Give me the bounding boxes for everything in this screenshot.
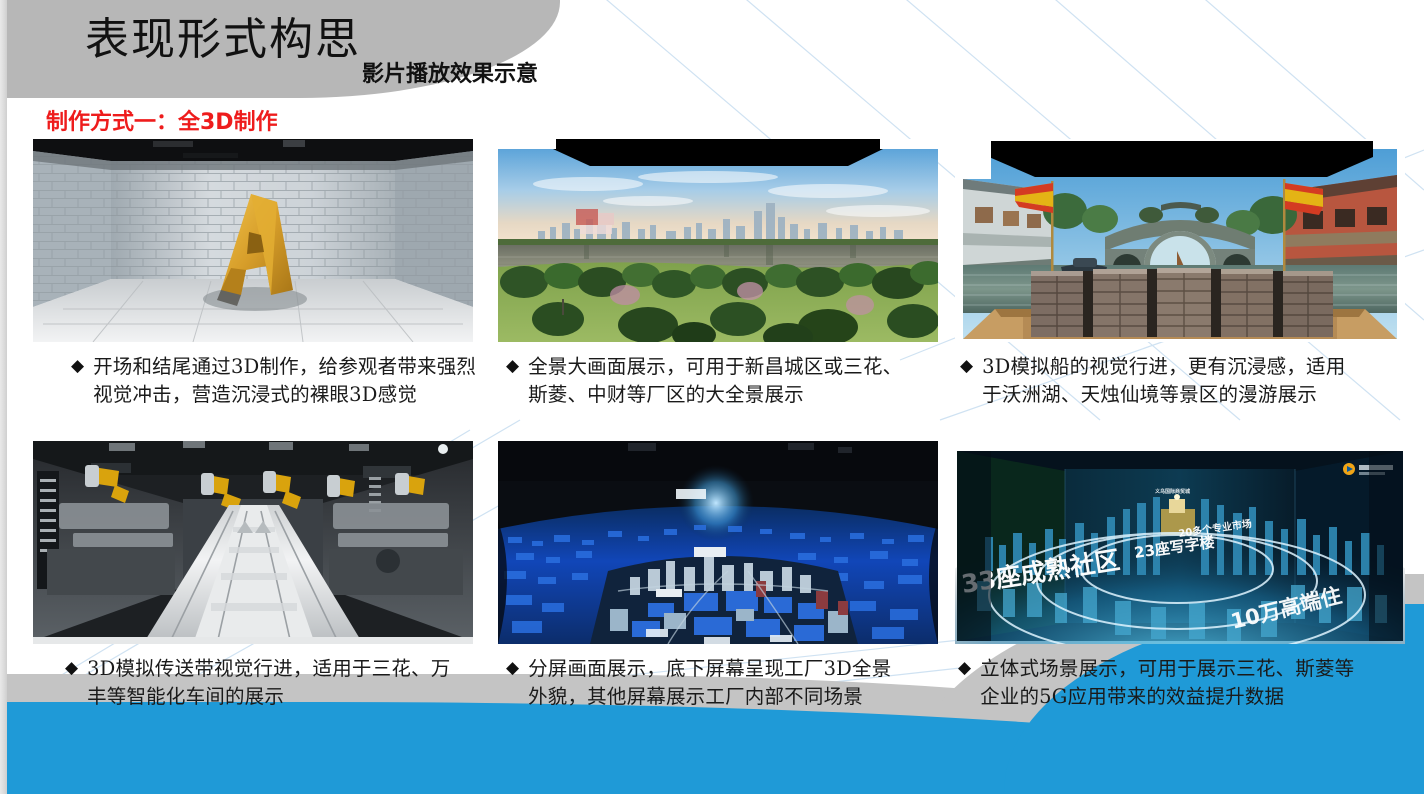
caption-boat-bridge: ◆ 3D模拟船的视觉行进，更有沉浸感，适用 于沃洲湖、天烛仙境等景区的漫游展示 [960,353,1415,408]
svg-text:义乌国际商贸城: 义乌国际商贸城 [1154,488,1190,495]
bullet-diamond-icon: ◆ [71,354,84,379]
bullet-diamond-icon: ◆ [958,656,971,681]
thumbnail-split-screen[interactable] [498,441,938,644]
caption-text: 3D模拟船的视觉行进，更有沉浸感，适用 于沃洲湖、天烛仙境等景区的漫游展示 [982,353,1345,408]
slide-canvas: 表现形式构思 影片播放效果示意 制作方式一：全3D制作 [0,0,1424,794]
thumbnail-3d-room[interactable] [33,139,473,342]
caption-stereo-scene: ◆ 立体式场景展示，可用于展示三花、斯菱等 企业的5G应用带来的效益提升数据 [958,655,1416,710]
caption-text: 分屏画面展示，底下屏幕呈现工厂3D全景 外貌，其他屏幕展示工厂内部不同场景 [528,655,891,710]
bullet-diamond-icon: ◆ [506,656,519,681]
bullet-diamond-icon: ◆ [506,354,519,379]
caption-3d-room: ◆ 开场和结尾通过3D制作，给参观者带来强烈 视觉冲击，营造沉浸式的裸眼3D感觉 [71,353,501,408]
bullet-diamond-icon: ◆ [960,354,973,379]
thumbnail-boat-bridge[interactable] [955,139,1405,342]
caption-text: 开场和结尾通过3D制作，给参观者带来强烈 视觉冲击，营造沉浸式的裸眼3D感觉 [93,353,476,408]
caption-text: 全景大画面展示，可用于新昌城区或三花、 斯菱、中财等厂区的大全景展示 [528,353,902,408]
caption-conveyor: ◆ 3D模拟传送带视觉行进，适用于三花、万 丰等智能化车间的展示 [65,655,501,710]
card-grid: ◆ 开场和结尾通过3D制作，给参观者带来强烈 视觉冲击，营造沉浸式的裸眼3D感觉 [0,0,1424,794]
caption-text: 3D模拟传送带视觉行进，适用于三花、万 丰等智能化车间的展示 [87,655,450,710]
bullet-diamond-icon: ◆ [65,656,78,681]
caption-split-screen: ◆ 分屏画面展示，底下屏幕呈现工厂3D全景 外貌，其他屏幕展示工厂内部不同场景 [506,655,958,710]
thumbnail-conveyor[interactable] [33,441,473,644]
caption-text: 立体式场景展示，可用于展示三花、斯菱等 企业的5G应用带来的效益提升数据 [980,655,1354,710]
thumbnail-city-panorama[interactable] [498,139,938,342]
caption-city-panorama: ◆ 全景大画面展示，可用于新昌城区或三花、 斯菱、中财等厂区的大全景展示 [506,353,958,408]
thumbnail-stereo-scene[interactable]: 20多个专业市场 23座写字楼 33座成熟社区 10万高端住 义乌国际商贸城 [955,441,1405,644]
